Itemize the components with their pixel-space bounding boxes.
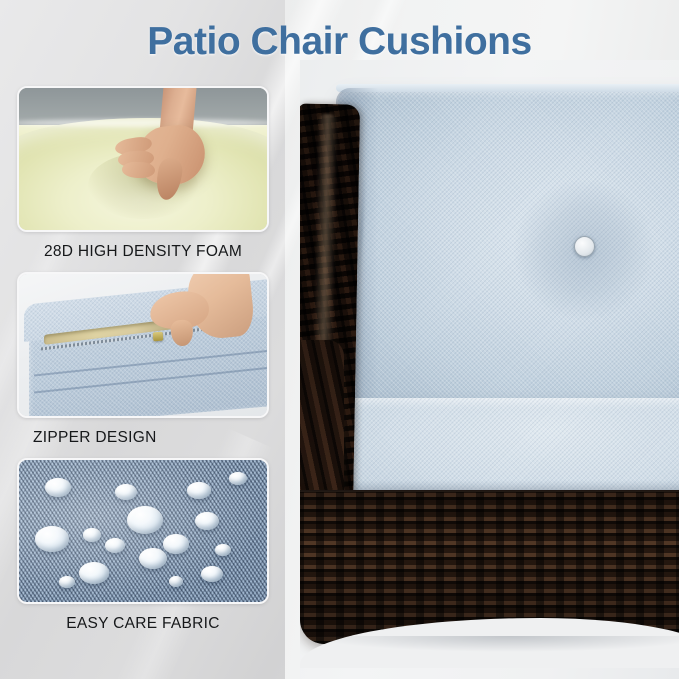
feature-panel-zipper-design: ZIPPER DESIGN [17, 272, 269, 458]
tufted-button [574, 236, 595, 257]
feature-panel-easy-care-fabric: EASY CARE FABRIC [17, 458, 269, 644]
pinching-fingers [170, 319, 194, 347]
product-infographic: Patio Chair Cushions 2 [0, 0, 679, 679]
patio-chair-photo [300, 60, 679, 679]
fabric-light-sheen [19, 460, 267, 602]
feature-panel-list: 28D HIGH DENSITY FOAM ZIPPER DESIGN [17, 86, 269, 644]
floor-shadow [310, 636, 679, 652]
hand-pulling-zipper [143, 272, 252, 354]
foam-press-photo [17, 86, 269, 232]
page-title: Patio Chair Cushions [0, 20, 679, 64]
water-bead-fabric-photo [17, 458, 269, 604]
feature-caption-easy-care-fabric: EASY CARE FABRIC [17, 604, 269, 644]
feature-caption-zipper-design: ZIPPER DESIGN [17, 418, 269, 458]
zipper-photo [17, 272, 269, 418]
back-cushion-piping [336, 84, 679, 92]
feature-caption-high-density-foam: 28D HIGH DENSITY FOAM [17, 232, 269, 272]
finger [122, 161, 155, 178]
hand-pressing-foam [113, 86, 222, 204]
feature-panel-high-density-foam: 28D HIGH DENSITY FOAM [17, 86, 269, 272]
